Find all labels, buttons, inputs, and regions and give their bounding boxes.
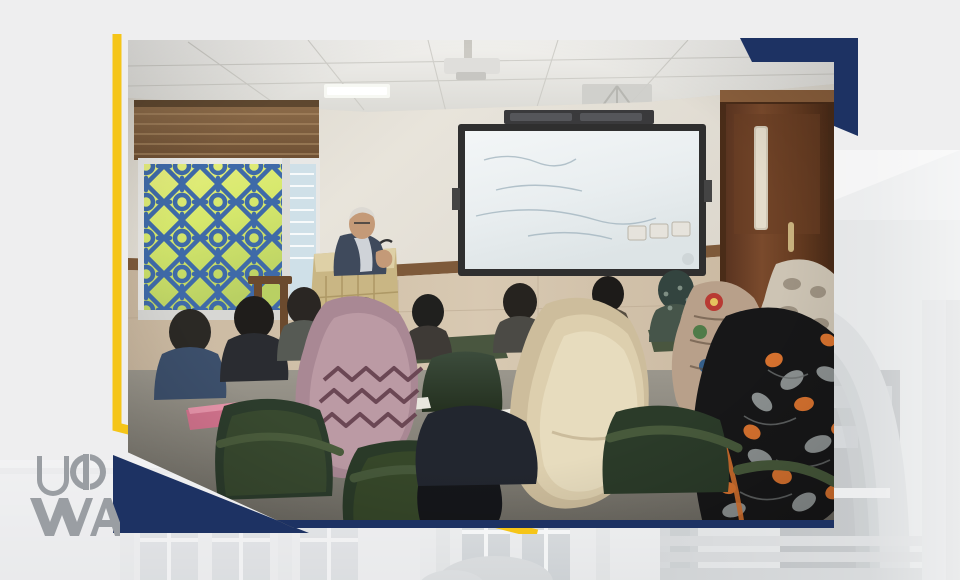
promotional-image-canvas: UO WA	[0, 0, 960, 580]
navy-corner-bracket	[700, 28, 860, 143]
uowa-logo: UO WA	[28, 452, 120, 538]
